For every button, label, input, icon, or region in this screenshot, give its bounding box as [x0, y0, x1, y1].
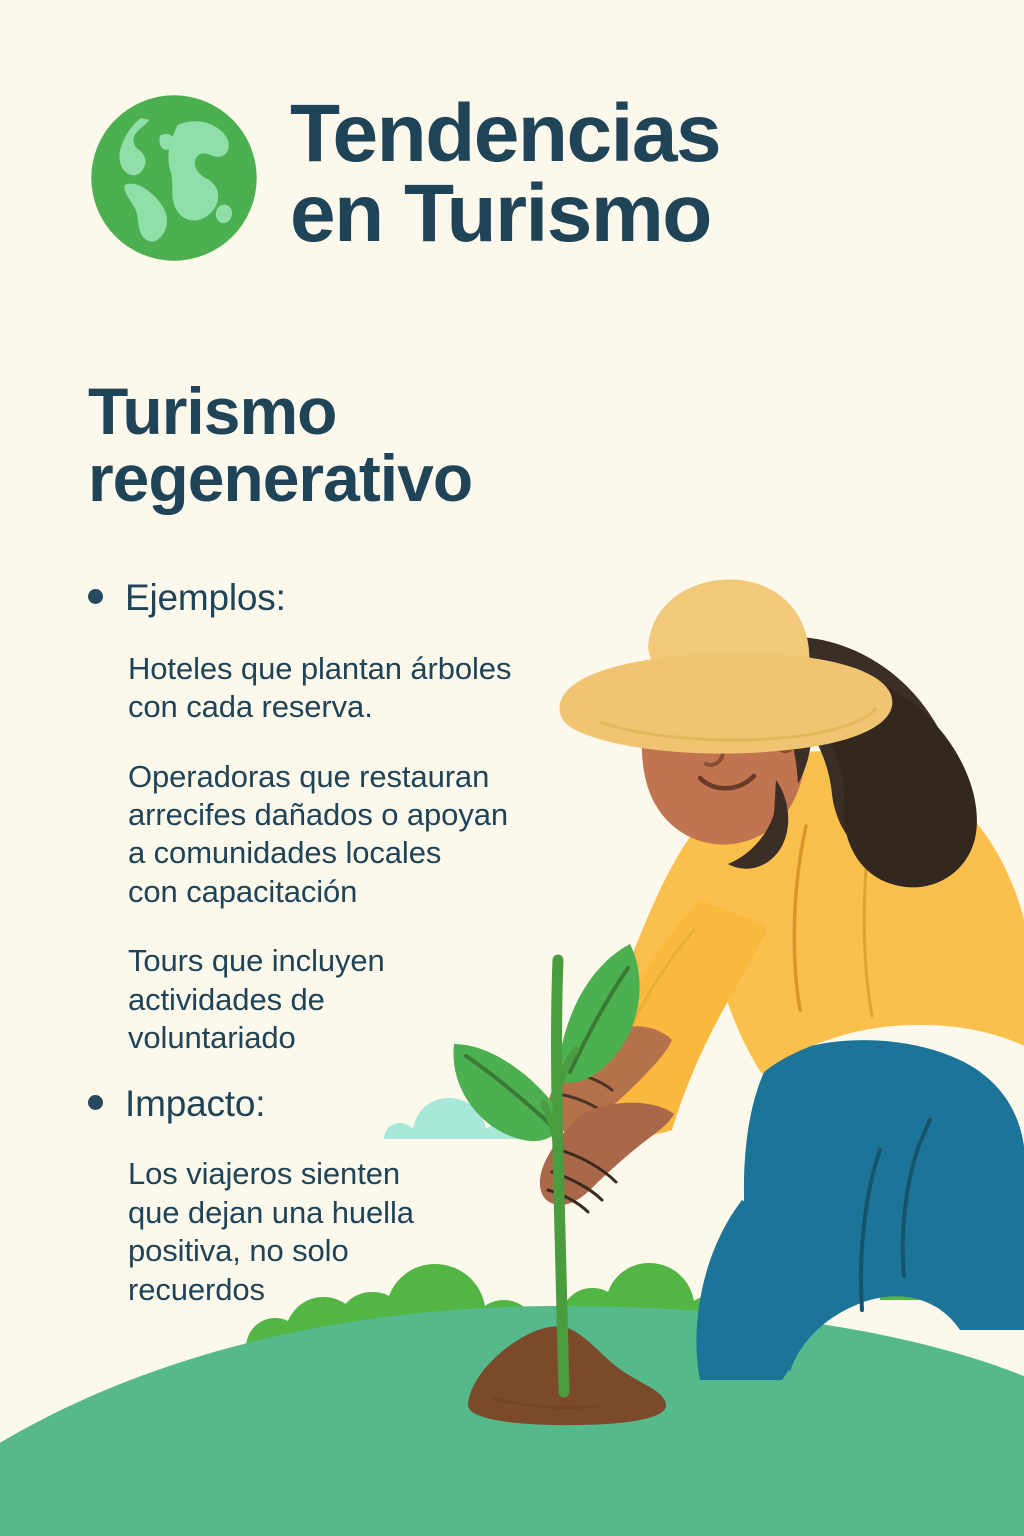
- page-title: Tendencias en Turismo: [290, 86, 720, 255]
- hat-icon: [560, 580, 893, 754]
- section-impacto: Impacto: Los viajeros sienten que dejan …: [88, 1084, 588, 1309]
- section-headline: Turismo regenerativo: [88, 378, 708, 513]
- section-label: Ejemplos:: [125, 578, 286, 619]
- section-heading: Impacto:: [88, 1084, 588, 1125]
- bushes-right: [880, 1233, 1024, 1300]
- section-label: Impacto:: [125, 1084, 265, 1125]
- poster-canvas: Tendencias en Turismo Turismo regenerati…: [0, 0, 1024, 1536]
- section-heading: Ejemplos:: [88, 578, 588, 619]
- soil-mound: [468, 1326, 666, 1425]
- woman-body: [540, 580, 1024, 1380]
- list-item: Hoteles que plantan árboles con cada res…: [128, 650, 588, 727]
- list-item: Tours que incluyen actividades de volunt…: [128, 942, 588, 1057]
- bullet-dot-icon: [88, 589, 103, 604]
- list-item: Operadoras que restauran arrecifes dañad…: [128, 758, 588, 912]
- poster-header: Tendencias en Turismo: [86, 86, 720, 266]
- content-list: Ejemplos: Hoteles que plantan árboles co…: [88, 578, 588, 1309]
- section-ejemplos: Ejemplos: Hoteles que plantan árboles co…: [88, 578, 588, 1058]
- list-item: Los viajeros sienten que dejan una huell…: [128, 1155, 588, 1309]
- section-items: Hoteles que plantan árboles con cada res…: [88, 650, 588, 1058]
- hair: [760, 637, 977, 888]
- section-items: Los viajeros sienten que dejan una huell…: [88, 1155, 588, 1309]
- grass-hill: [0, 1306, 1024, 1536]
- bullet-dot-icon: [88, 1095, 103, 1110]
- globe-icon: [86, 90, 262, 266]
